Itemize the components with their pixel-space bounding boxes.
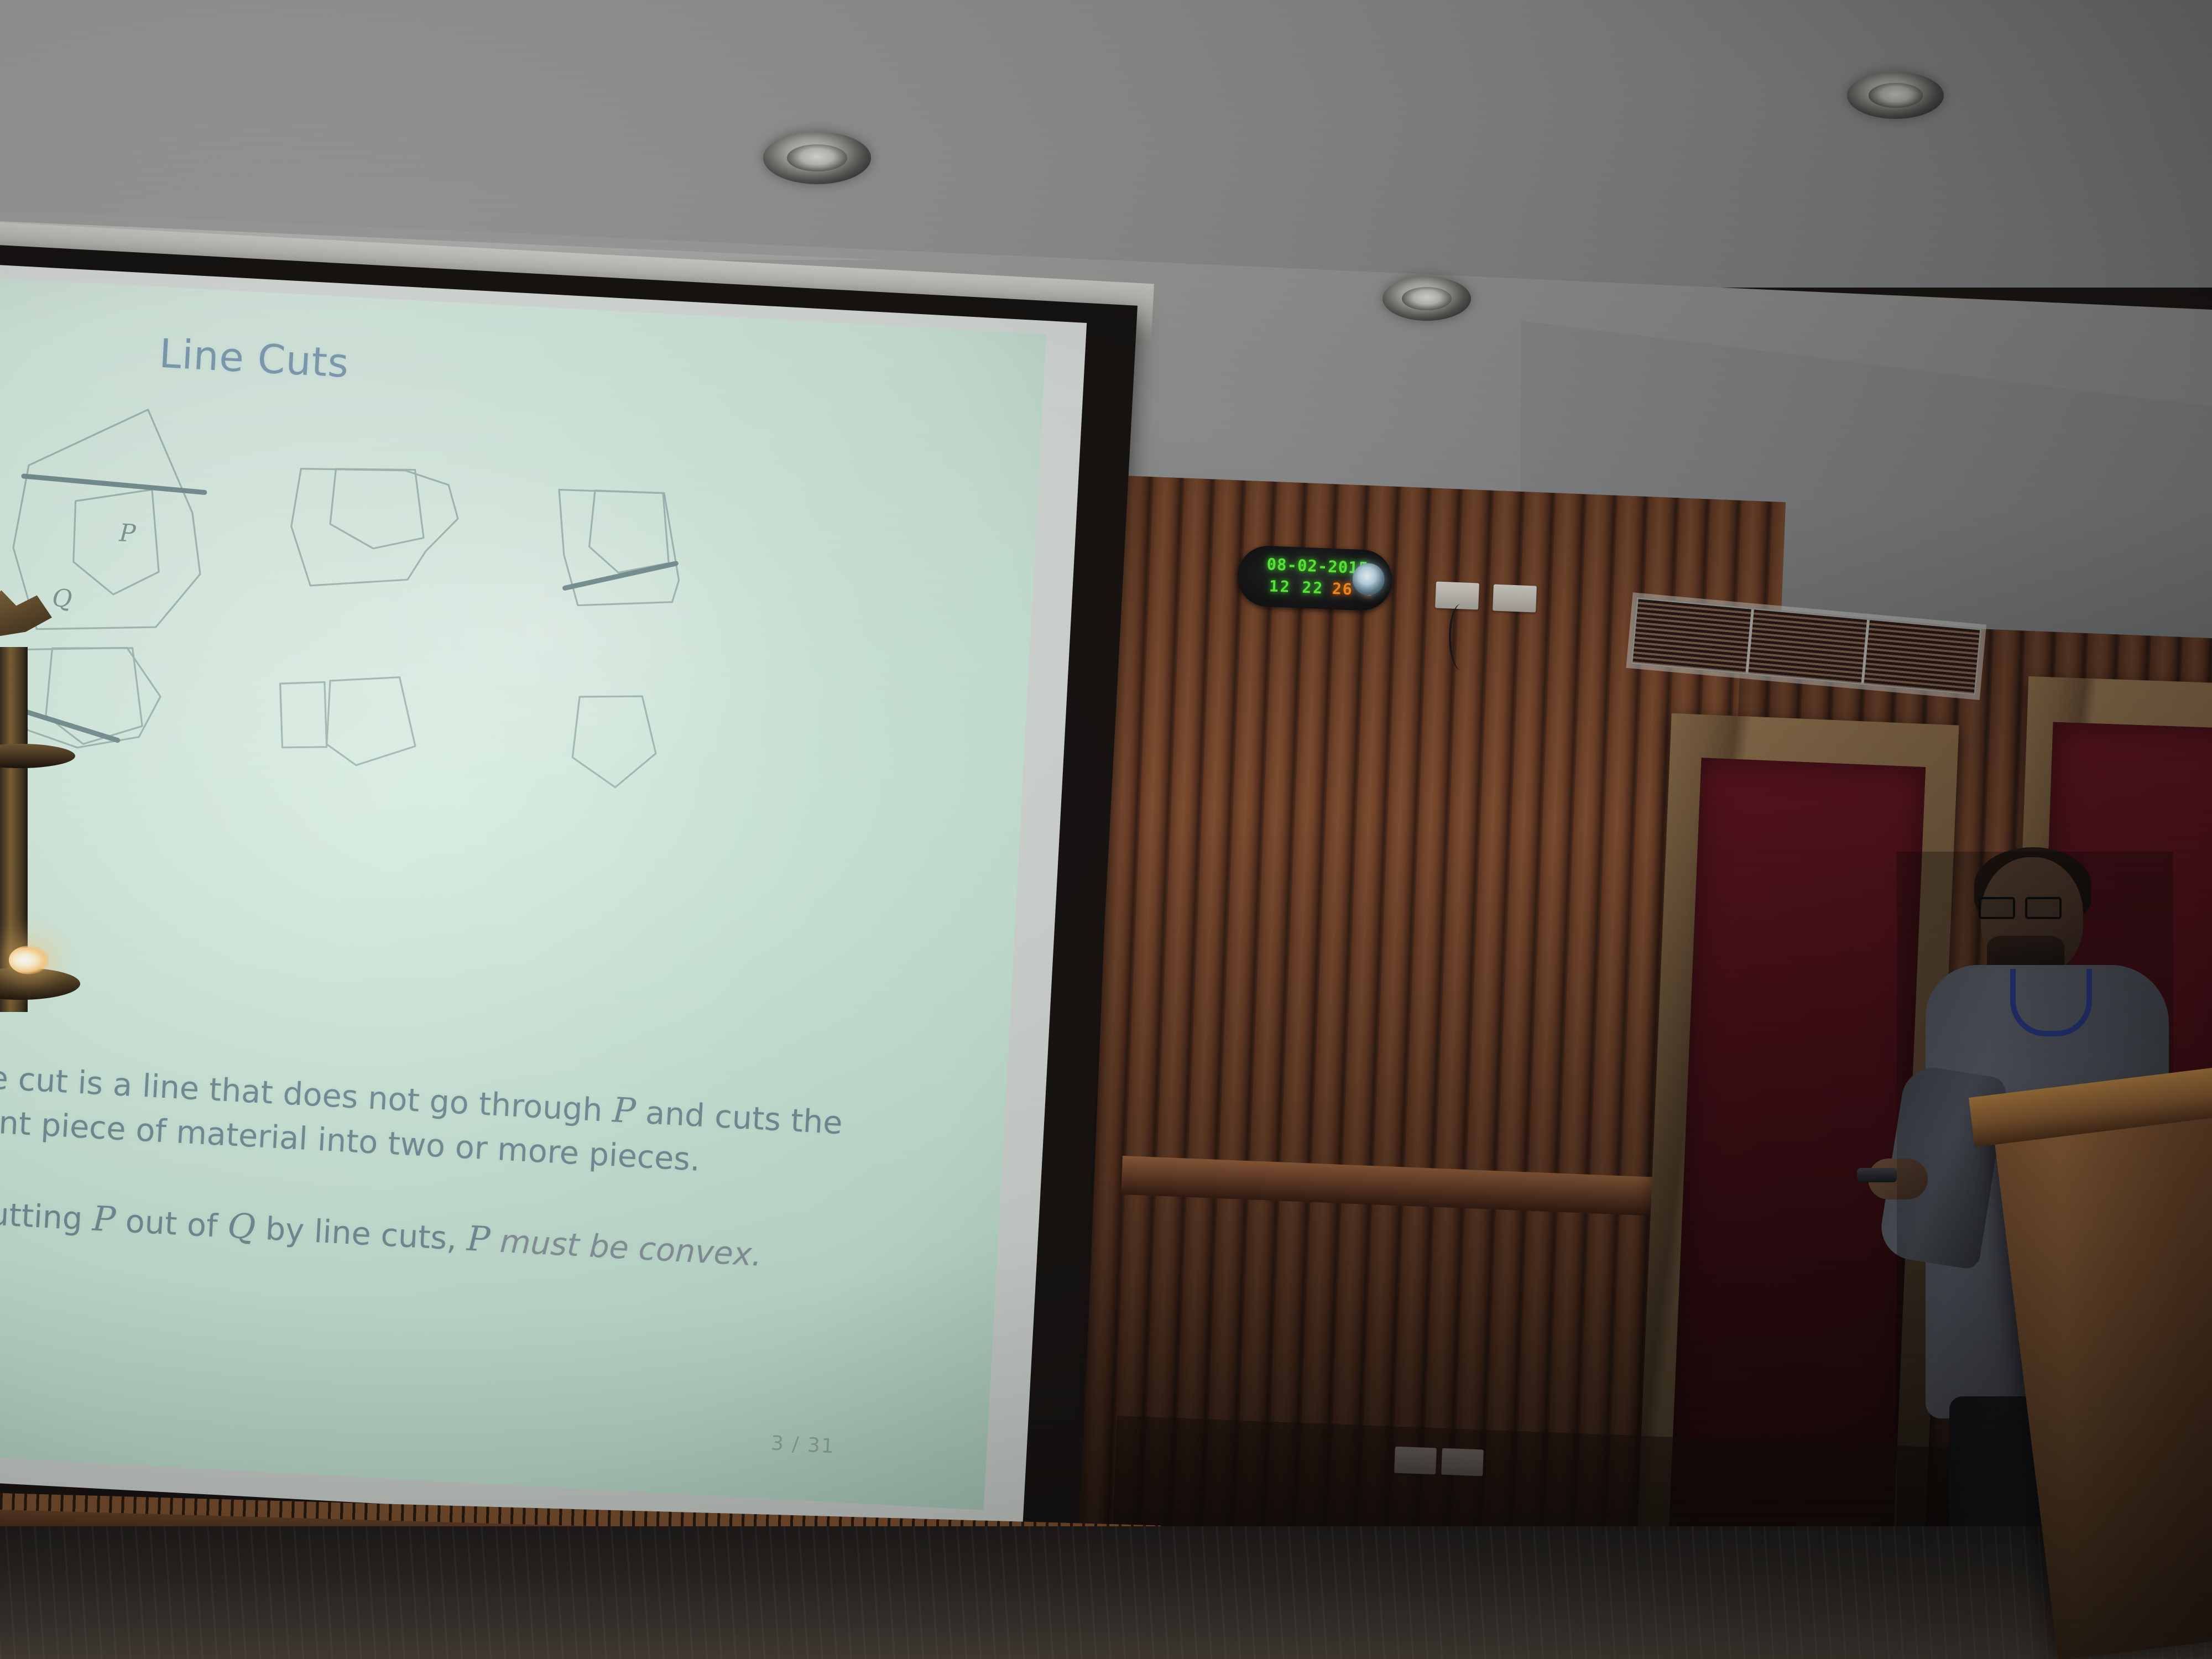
- power-cable: [1449, 604, 1473, 670]
- glasses-lens-right: [2025, 897, 2062, 919]
- socket-plate-right: [1493, 584, 1537, 612]
- projected-slide: Line Cuts P Q: [0, 276, 1046, 1510]
- figure-after-third-cut: [267, 653, 439, 780]
- convexity-text-1: or cutting: [0, 1193, 93, 1238]
- slide-paragraph-convexity: For cutting P out of Q by line cuts, P m…: [0, 1185, 908, 1285]
- digital-clock: 08-02-2015 12 22 26 C: [1237, 545, 1394, 612]
- slide-page-number: 3 / 31: [770, 1432, 836, 1458]
- presentation-clicker-icon[interactable]: [1857, 1168, 1897, 1182]
- vent-divider: [1745, 609, 1754, 673]
- convexity-emphasis: must be convex.: [489, 1223, 763, 1274]
- vent-divider: [1861, 620, 1870, 684]
- floor: [0, 1526, 2212, 1659]
- lecture-hall-photo: 08-02-2015 12 22 26 C Line Cuts: [0, 0, 2212, 1659]
- figure-after-first-cut: [287, 460, 477, 613]
- downlight-left-icon: [763, 132, 871, 184]
- slide-body-text: A line cut is a line that does not go th…: [0, 1050, 915, 1331]
- convexity-text-3: by line cuts,: [254, 1210, 468, 1258]
- math-var-Q: Q: [226, 1206, 257, 1248]
- figure-final-convex-p: [551, 682, 679, 801]
- math-var-P-2: P: [91, 1198, 117, 1240]
- downlight-right-icon: [1847, 72, 1944, 119]
- figure-label-P: P: [118, 519, 137, 548]
- lamp-disc-lower: [0, 968, 80, 1000]
- glasses-lens-left: [1979, 897, 2015, 919]
- math-var-P-3: P: [466, 1218, 492, 1260]
- traditional-oil-lamp: [0, 586, 80, 1029]
- clock-time: 12 22: [1269, 577, 1324, 597]
- downlight-bulb: [1869, 83, 1923, 107]
- lamp-flame-icon: [9, 946, 49, 974]
- lamp-disc-upper: [0, 744, 75, 768]
- temperature-value: 26: [1332, 580, 1353, 598]
- downlight-bulb: [787, 144, 847, 171]
- slide-title: Line Cuts: [158, 330, 351, 387]
- figure-second-cut: [547, 485, 708, 620]
- downlight-center-icon: [1383, 276, 1471, 321]
- floor-reflection: [0, 1526, 2212, 1659]
- math-var-P: P: [612, 1089, 637, 1131]
- downlight-bulb: [1402, 287, 1452, 310]
- glasses-icon: [1979, 897, 2062, 916]
- convexity-text-2: out of: [114, 1203, 228, 1245]
- lanyard: [2010, 969, 2092, 1036]
- lamp-bird-finial-icon: [0, 586, 52, 651]
- slide-paragraph-definition: A line cut is a line that does not go th…: [0, 1050, 915, 1193]
